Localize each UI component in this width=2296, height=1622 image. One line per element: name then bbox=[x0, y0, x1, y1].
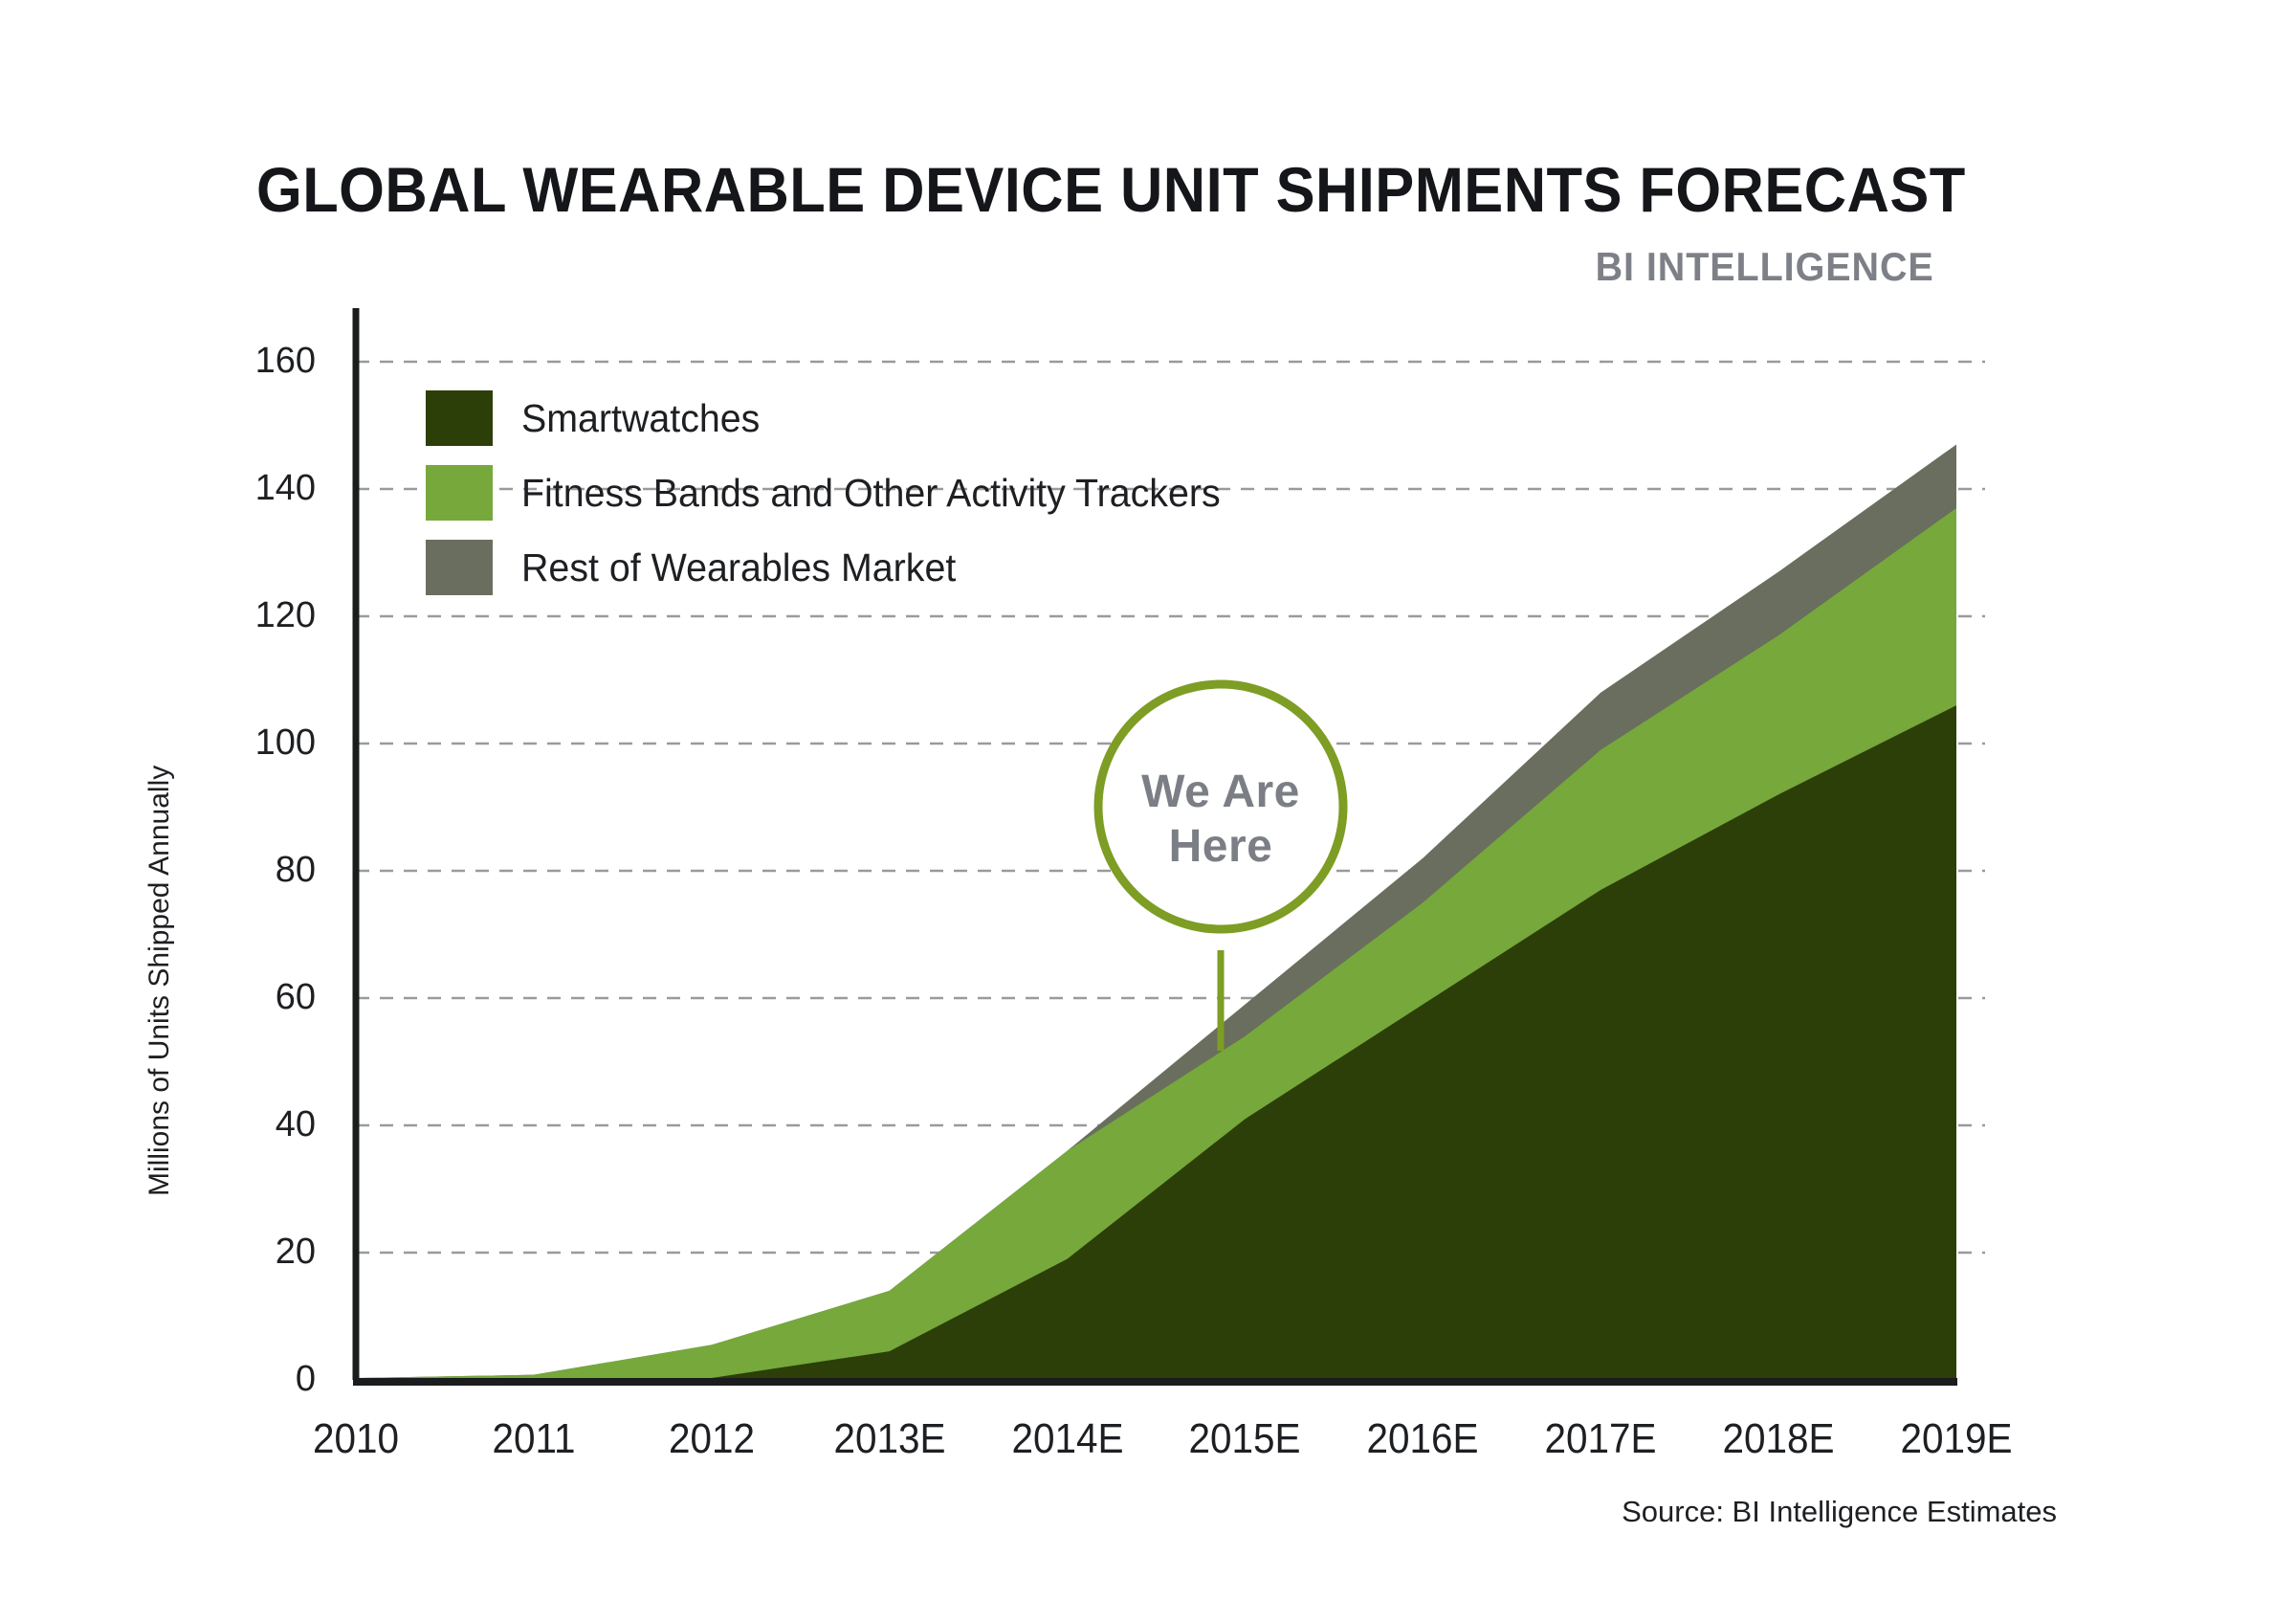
y-axis-tick-label: 120 bbox=[172, 597, 316, 633]
y-axis-title: Millions of Units Shipped Annually bbox=[143, 766, 176, 1196]
legend-item: Fitness Bands and Other Activity Tracker… bbox=[426, 455, 1249, 530]
y-axis-tick-label: 0 bbox=[172, 1361, 316, 1397]
chart-legend: SmartwatchesFitness Bands and Other Acti… bbox=[426, 381, 1249, 605]
y-axis-tick-label: 160 bbox=[172, 343, 316, 379]
legend-label: Smartwatches bbox=[521, 396, 760, 441]
x-axis-tick-label: 2019E bbox=[1851, 1418, 2063, 1460]
legend-item: Smartwatches bbox=[426, 381, 1249, 455]
y-axis-tick-label: 140 bbox=[172, 470, 316, 506]
legend-swatch bbox=[426, 540, 493, 595]
y-axis-tick-label: 60 bbox=[172, 979, 316, 1015]
y-axis-tick-label: 20 bbox=[172, 1233, 316, 1270]
legend-label: Rest of Wearables Market bbox=[521, 545, 956, 590]
y-axis-tick-label: 100 bbox=[172, 724, 316, 761]
callout-text: We Are Here bbox=[1077, 766, 1364, 874]
legend-item: Rest of Wearables Market bbox=[426, 530, 1249, 605]
source-note: Source: BI Intelligence Estimates bbox=[1622, 1495, 2057, 1529]
chart-page: GLOBAL WEARABLE DEVICE UNIT SHIPMENTS FO… bbox=[0, 0, 2296, 1622]
legend-swatch bbox=[426, 390, 493, 446]
callout-line-1: We Are bbox=[1077, 766, 1364, 820]
callout-line-2: Here bbox=[1077, 820, 1364, 875]
y-axis-tick-label: 40 bbox=[172, 1106, 316, 1143]
y-axis-tick-label: 80 bbox=[172, 852, 316, 888]
legend-swatch bbox=[426, 465, 493, 521]
legend-label: Fitness Bands and Other Activity Tracker… bbox=[521, 471, 1221, 516]
